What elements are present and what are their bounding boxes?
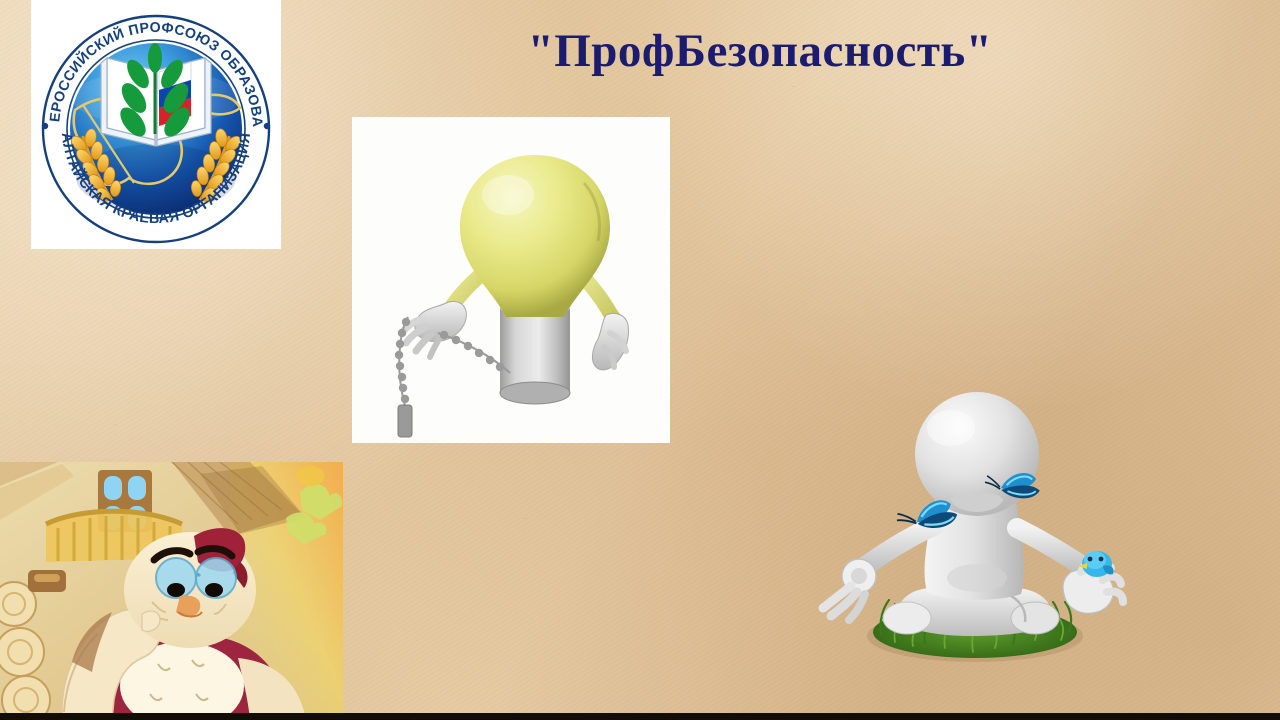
lightbulb-character-icon <box>352 117 670 443</box>
cartoon-still-image <box>0 462 343 720</box>
slide-canvas: "ПрофБезопасность" <box>0 0 1280 720</box>
left-hand-mudra <box>823 559 876 620</box>
meditating-figure-image <box>795 382 1150 672</box>
union-logo-card: ОБЩЕРОССИЙСКИЙ ПРОФСОЮЗ ОБРАЗОВАНИЯ АЛТА… <box>31 0 281 249</box>
cartoon-owl-character-icon <box>0 462 343 720</box>
meditating-figure-icon <box>795 382 1150 672</box>
page-title: "ПрофБезопасность" <box>340 22 1180 80</box>
bottom-letterbox-bar <box>0 713 1280 720</box>
union-logo-icon: ОБЩЕРОССИЙСКИЙ ПРОФСОЮЗ ОБРАЗОВАНИЯ АЛТА… <box>31 0 281 249</box>
lightbulb-image-card <box>352 117 670 443</box>
